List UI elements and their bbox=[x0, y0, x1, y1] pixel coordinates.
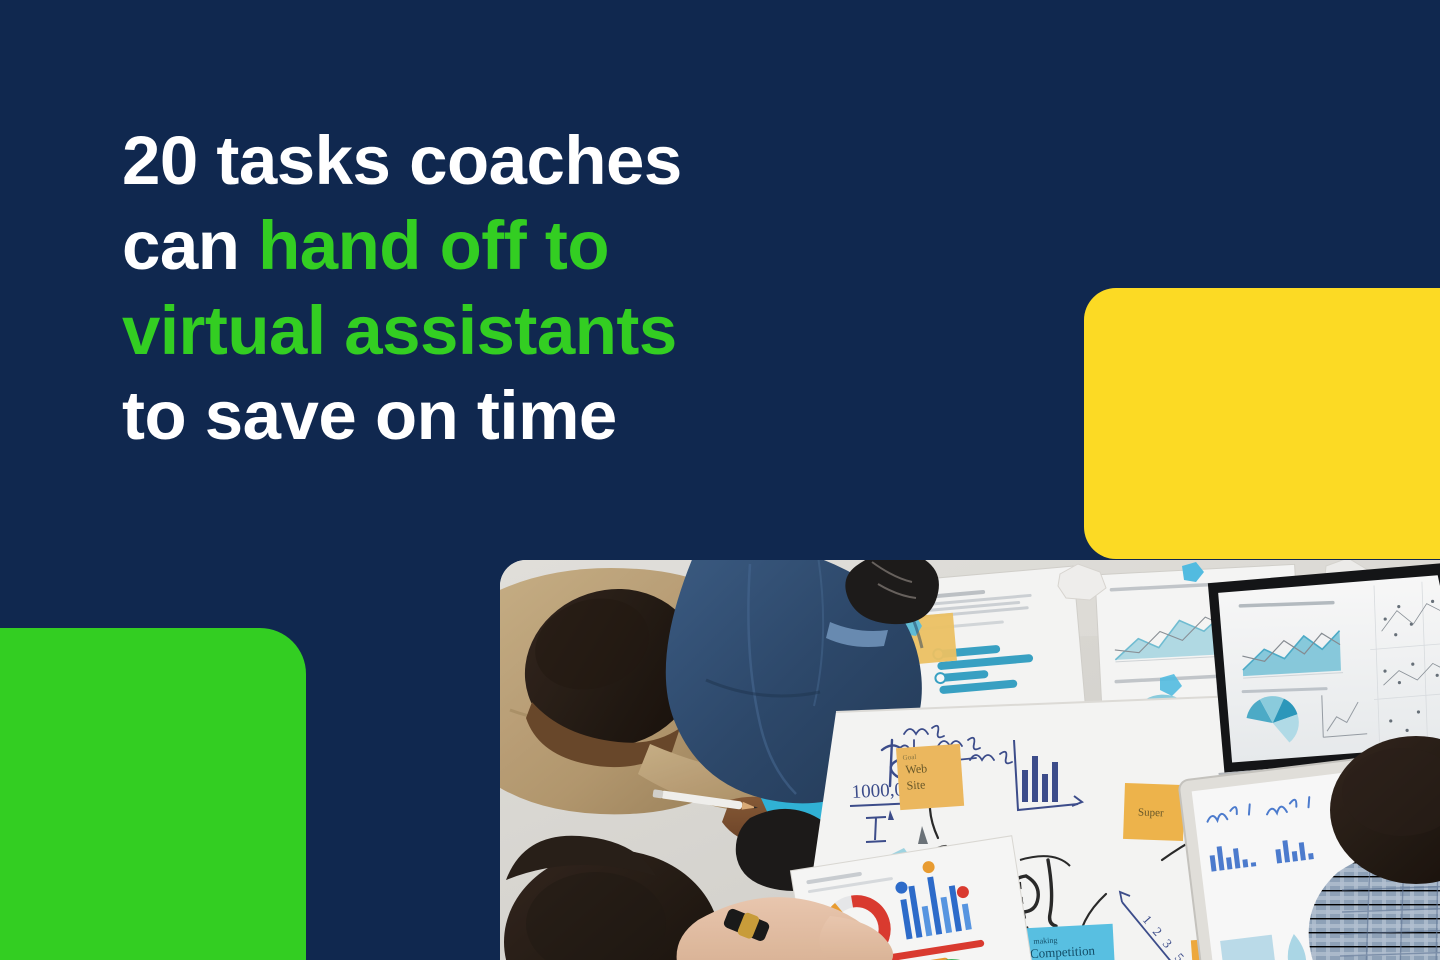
headline-line-2: can hand off to bbox=[122, 203, 822, 288]
headline-line-2-green: hand off to bbox=[258, 207, 609, 284]
headline-line-4: to save on time bbox=[122, 373, 822, 458]
headline-line-4-text: to save on time bbox=[122, 377, 617, 454]
headline-line-3-text: virtual assistants bbox=[122, 292, 677, 369]
page-title: 20 tasks coaches can hand off to virtual… bbox=[122, 118, 822, 458]
team-brainstorm-photo: 1000,000 bbox=[500, 560, 1440, 960]
green-rounded-block bbox=[0, 628, 306, 960]
headline-line-1-text: 20 tasks coaches bbox=[122, 122, 682, 199]
headline-line-1: 20 tasks coaches bbox=[122, 118, 822, 203]
yellow-rounded-block bbox=[1084, 288, 1440, 559]
headline-line-3: virtual assistants bbox=[122, 288, 822, 373]
hero-banner-canvas: 1000,000 bbox=[0, 0, 1440, 960]
photo-illustration: 1000,000 bbox=[500, 560, 1440, 960]
headline-line-2-white: can bbox=[122, 207, 258, 284]
